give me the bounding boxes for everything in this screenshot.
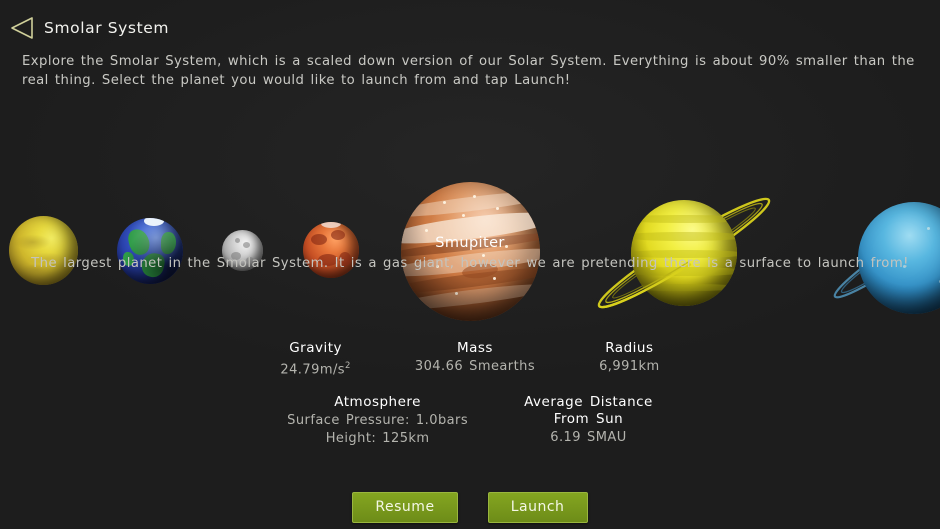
- footer-actions: Resume Launch: [0, 492, 940, 523]
- stat-average-distance: Average Distance From Sun 6.19 SMAU: [524, 394, 653, 446]
- planet-stats: Gravity 24.79m/s2 Mass 304.66 Smearths R…: [0, 340, 940, 447]
- stat-radius-value: 6,991km: [599, 358, 660, 375]
- resume-button[interactable]: Resume: [352, 492, 457, 523]
- planet-earth-icon[interactable]: [117, 218, 183, 284]
- earth-shading: [117, 218, 183, 284]
- planet-jupiter-icon[interactable]: [401, 182, 540, 321]
- stat-gravity-value: 24.79m/s2: [280, 358, 351, 378]
- stat-atmosphere-label: Atmosphere: [287, 394, 468, 411]
- selected-planet-description: The largest planet in the Smolar System.…: [0, 256, 940, 271]
- back-triangle-icon[interactable]: [0, 10, 44, 46]
- stat-radius-label: Radius: [599, 340, 660, 357]
- stat-atmosphere-pressure: Surface Pressure: 1.0bars: [287, 412, 468, 429]
- stat-radius: Radius 6,991km: [599, 340, 660, 375]
- header-bar: Smolar System: [0, 10, 169, 46]
- selected-planet-name: Smupiter: [0, 235, 940, 251]
- jupiter-shading: [401, 182, 540, 321]
- stats-row-secondary: Atmosphere Surface Pressure: 1.0bars Hei…: [0, 394, 940, 447]
- stat-gravity-number: 24.79m/s: [280, 362, 345, 377]
- planet-uranus-icon[interactable]: [818, 184, 940, 324]
- saturn-rings-front: [578, 178, 790, 328]
- smolar-system-screen: Smolar System Explore the Smolar System,…: [0, 0, 940, 529]
- mars-polar-cap: [321, 222, 341, 228]
- stat-gravity-label: Gravity: [280, 340, 351, 357]
- stats-row-primary: Gravity 24.79m/s2 Mass 304.66 Smearths R…: [0, 340, 940, 378]
- intro-description: Explore the Smolar System, which is a sc…: [22, 52, 920, 90]
- stat-mass-label: Mass: [415, 340, 535, 357]
- stat-mass: Mass 304.66 Smearths: [415, 340, 535, 375]
- stat-gravity: Gravity 24.79m/s2: [280, 340, 351, 378]
- stat-mass-value: 304.66 Smearths: [415, 358, 535, 375]
- stat-atmosphere-height: Height: 125km: [287, 430, 468, 447]
- page-title: Smolar System: [44, 19, 169, 37]
- stat-distance-label-line2: From Sun: [524, 411, 653, 428]
- planet-selector-strip: [0, 88, 940, 240]
- stat-gravity-exponent: 2: [345, 361, 351, 371]
- stat-atmosphere: Atmosphere Surface Pressure: 1.0bars Hei…: [287, 394, 468, 447]
- planet-saturn-icon[interactable]: [578, 178, 790, 328]
- launch-button[interactable]: Launch: [488, 492, 588, 523]
- stat-distance-value: 6.19 SMAU: [524, 429, 653, 446]
- stat-distance-label-line1: Average Distance: [524, 394, 653, 411]
